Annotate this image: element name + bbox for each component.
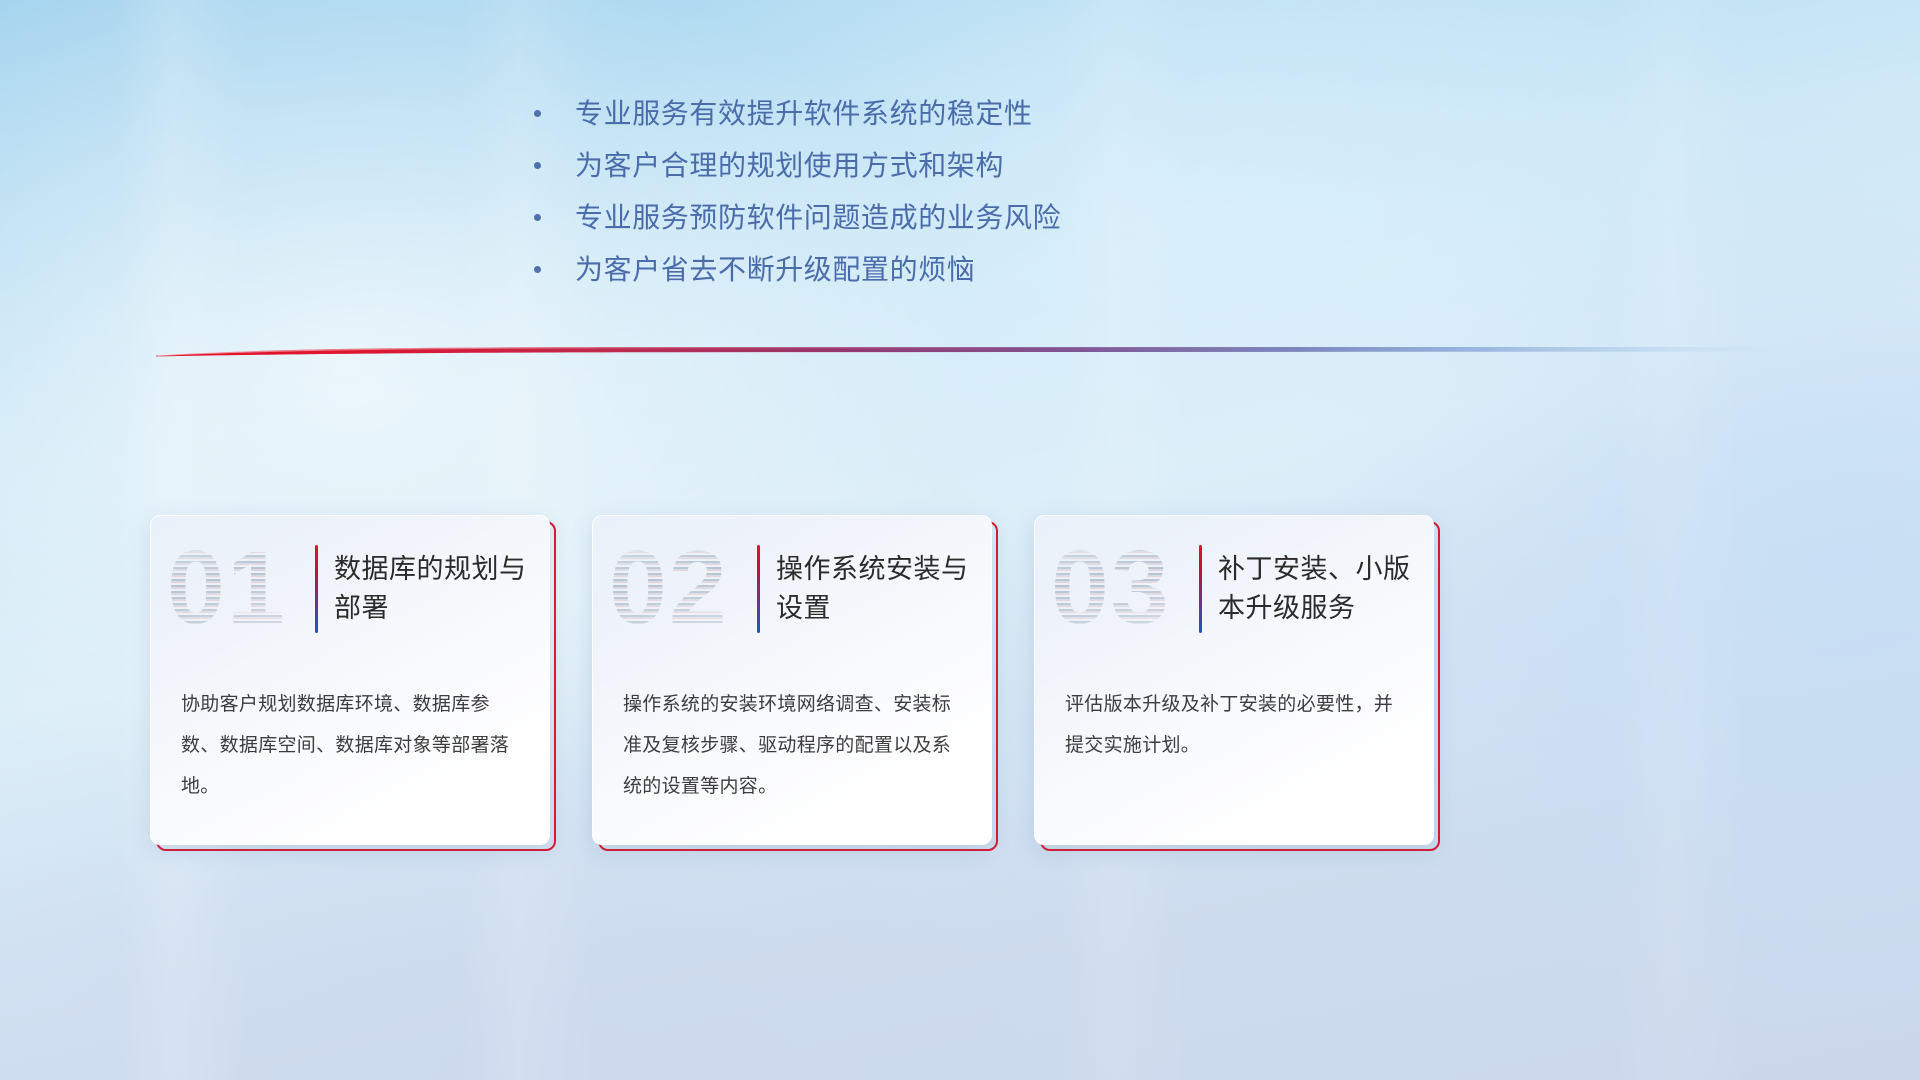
- slide-canvas: 专业服务有效提升软件系统的稳定性 为客户合理的规划使用方式和架构 专业服务预防软…: [0, 0, 1920, 1080]
- card-title-accent-bar: [315, 545, 318, 633]
- card-title-accent-bar: [757, 545, 760, 633]
- ghost-number-01-icon: 01: [165, 537, 315, 641]
- svg-text:02: 02: [609, 537, 729, 641]
- bullet-text: 为客户省去不断升级配置的烦恼: [575, 244, 975, 296]
- list-item: 专业服务有效提升软件系统的稳定性: [534, 88, 1394, 140]
- svg-text:01: 01: [167, 537, 287, 641]
- card-description: 协助客户规划数据库环境、数据库参数、数据库空间、数据库对象等部署落地。: [181, 684, 527, 807]
- service-card[interactable]: 01 数据库的规划与部署 协助客户规划数据库环境、数据库参数、数据库空间、数据库…: [150, 515, 550, 845]
- card-description: 操作系统的安装环境网络调查、安装标准及复核步骤、驱动程序的配置以及系统的设置等内…: [623, 684, 969, 807]
- ghost-number-02-icon: 02: [607, 537, 757, 641]
- bullet-text: 为客户合理的规划使用方式和架构: [575, 140, 1004, 192]
- ghost-number-03-icon: 03: [1049, 537, 1199, 641]
- card-surface: 02 操作系统安装与设置 操作系统的安装环境网络调查、安装标准及复核步骤、驱动程…: [592, 515, 992, 845]
- card-header: 03 补丁安装、小版本升级服务: [1035, 534, 1434, 644]
- service-card[interactable]: 03 补丁安装、小版本升级服务 评估版本升级及补丁安装的必要性，并提交实施计划。: [1034, 515, 1434, 845]
- bullet-text: 专业服务预防软件问题造成的业务风险: [575, 192, 1061, 244]
- bullet-dot-icon: [534, 214, 541, 221]
- card-header: 01 数据库的规划与部署: [151, 534, 550, 644]
- card-title: 数据库的规划与部署: [334, 550, 550, 628]
- tapered-rule-icon: [150, 340, 1790, 368]
- card-surface: 01 数据库的规划与部署 协助客户规划数据库环境、数据库参数、数据库空间、数据库…: [150, 515, 550, 845]
- list-item: 专业服务预防软件问题造成的业务风险: [534, 192, 1394, 244]
- card-title: 操作系统安装与设置: [776, 550, 992, 628]
- card-title: 补丁安装、小版本升级服务: [1218, 550, 1434, 628]
- bullet-text: 专业服务有效提升软件系统的稳定性: [575, 88, 1033, 140]
- svg-text:03: 03: [1051, 537, 1171, 641]
- card-surface: 03 补丁安装、小版本升级服务 评估版本升级及补丁安装的必要性，并提交实施计划。: [1034, 515, 1434, 845]
- bullet-dot-icon: [534, 266, 541, 273]
- service-card[interactable]: 02 操作系统安装与设置 操作系统的安装环境网络调查、安装标准及复核步骤、驱动程…: [592, 515, 992, 845]
- list-item: 为客户合理的规划使用方式和架构: [534, 140, 1394, 192]
- service-card-row: 01 数据库的规划与部署 协助客户规划数据库环境、数据库参数、数据库空间、数据库…: [150, 515, 1790, 845]
- card-title-accent-bar: [1199, 545, 1202, 633]
- bullet-dot-icon: [534, 162, 541, 169]
- benefits-bullet-list: 专业服务有效提升软件系统的稳定性 为客户合理的规划使用方式和架构 专业服务预防软…: [534, 88, 1394, 296]
- card-header: 02 操作系统安装与设置: [593, 534, 992, 644]
- list-item: 为客户省去不断升级配置的烦恼: [534, 244, 1394, 296]
- card-description: 评估版本升级及补丁安装的必要性，并提交实施计划。: [1065, 684, 1411, 766]
- bullet-dot-icon: [534, 110, 541, 117]
